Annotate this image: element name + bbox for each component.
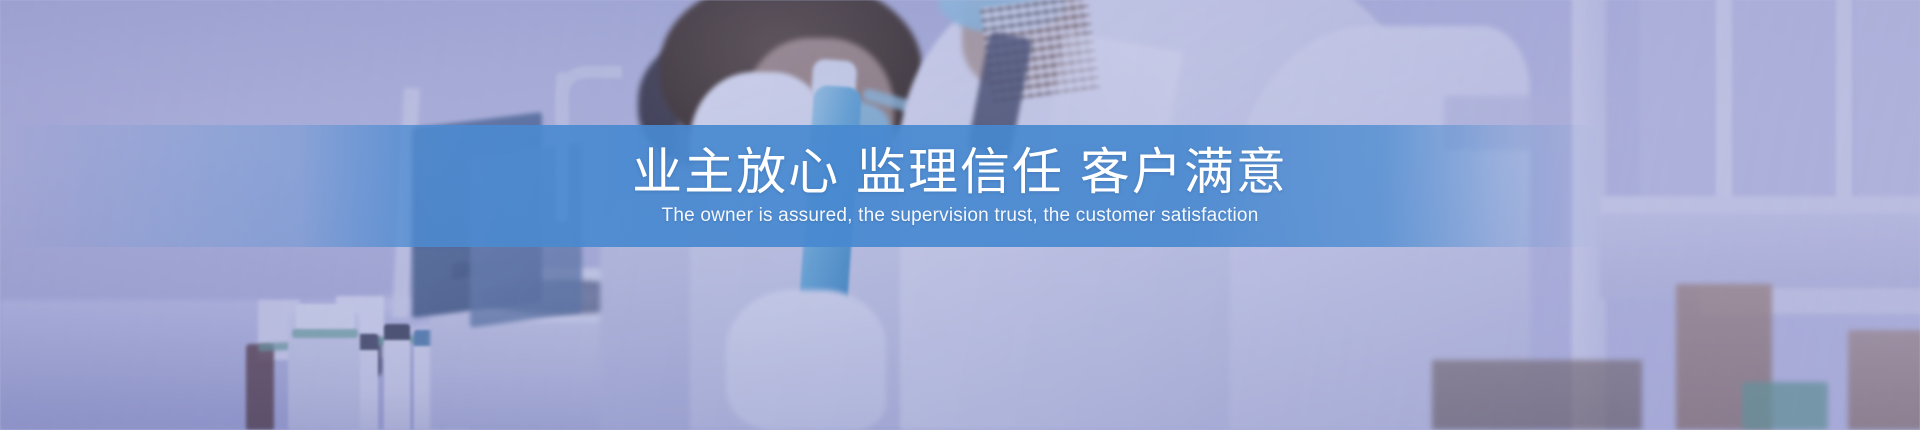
slogan-block: 业主放心 监理信任 客户满意 The owner is assured, the… bbox=[0, 125, 1920, 247]
slogan-subheadline: The owner is assured, the supervision tr… bbox=[662, 201, 1259, 228]
slogan-headline: 业主放心 监理信任 客户满意 bbox=[632, 145, 1288, 199]
hero-banner: 业主放心 监理信任 客户满意 The owner is assured, the… bbox=[0, 0, 1920, 430]
